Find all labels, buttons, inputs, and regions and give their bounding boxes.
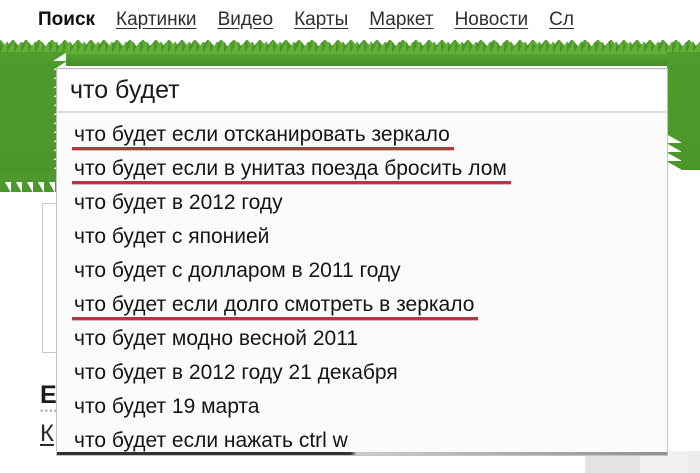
nav-item-video[interactable]: Видео <box>218 9 274 31</box>
nav-item-novosti[interactable]: Новости <box>455 9 529 31</box>
dropdown-bottom-edge <box>57 452 668 455</box>
suggestion-item[interactable]: что будет в 2012 году <box>57 186 667 220</box>
suggestion-label: что будет в 2012 году <box>74 186 283 220</box>
grass-left-fringe-icon <box>0 172 60 192</box>
suggestion-item[interactable]: что будет если долго смотреть в зеркало <box>57 288 667 322</box>
suggestion-label: что будет в 2012 году 21 декабря <box>74 356 398 390</box>
suggestion-item[interactable]: что будет в 2012 году 21 декабря <box>57 356 667 390</box>
suggestion-label: что будет с японией <box>74 220 269 254</box>
nav-item-karty[interactable]: Карты <box>294 9 348 31</box>
suggestion-item[interactable]: что будет с долларом в 2011 году <box>57 254 667 288</box>
search-input[interactable]: что будет <box>56 68 668 112</box>
nav-item-market[interactable]: Маркет <box>369 9 433 31</box>
search-input-value: что будет <box>70 78 180 103</box>
nav-item-poisk[interactable]: Поиск <box>38 9 95 31</box>
suggestions-list: что будет если отсканировать зеркало что… <box>57 113 667 456</box>
suggestion-item[interactable]: что будет если отсканировать зеркало <box>57 118 667 152</box>
suggestion-label: что будет если долго смотреть в зеркало <box>74 288 474 322</box>
screenshot-stage: Поиск Картинки Видео Карты Маркет Новост… <box>0 0 700 473</box>
top-navigation: Поиск Картинки Видео Карты Маркет Новост… <box>0 0 700 40</box>
grass-right-column <box>667 52 700 170</box>
suggestion-label: что будет если отсканировать зеркало <box>74 118 450 152</box>
suggestion-label: что будет 19 марта <box>74 390 259 424</box>
nav-item-slovari[interactable]: Сл <box>549 9 574 31</box>
suggestion-label: что будет если в унитаз поезда бросить л… <box>74 152 507 186</box>
grass-blades-overlay-icon <box>0 42 700 54</box>
suggestion-item[interactable]: что будет с японией <box>57 220 667 254</box>
suggestion-label: что будет модно весной 2011 <box>74 322 358 356</box>
suggestion-item[interactable]: что будет 19 марта <box>57 390 667 424</box>
search-suggestions-dropdown[interactable]: что будет если отсканировать зеркало что… <box>56 112 668 456</box>
background-sublink: К <box>40 420 54 448</box>
page-bottom-strip-right <box>688 451 700 473</box>
suggestion-label: что будет с долларом в 2011 году <box>74 254 401 288</box>
suggestion-item[interactable]: что будет модно весной 2011 <box>57 322 667 356</box>
suggestion-item[interactable]: что будет если в унитаз поезда бросить л… <box>57 152 667 186</box>
nav-item-kartinki[interactable]: Картинки <box>116 9 197 31</box>
grass-banner <box>0 40 700 66</box>
